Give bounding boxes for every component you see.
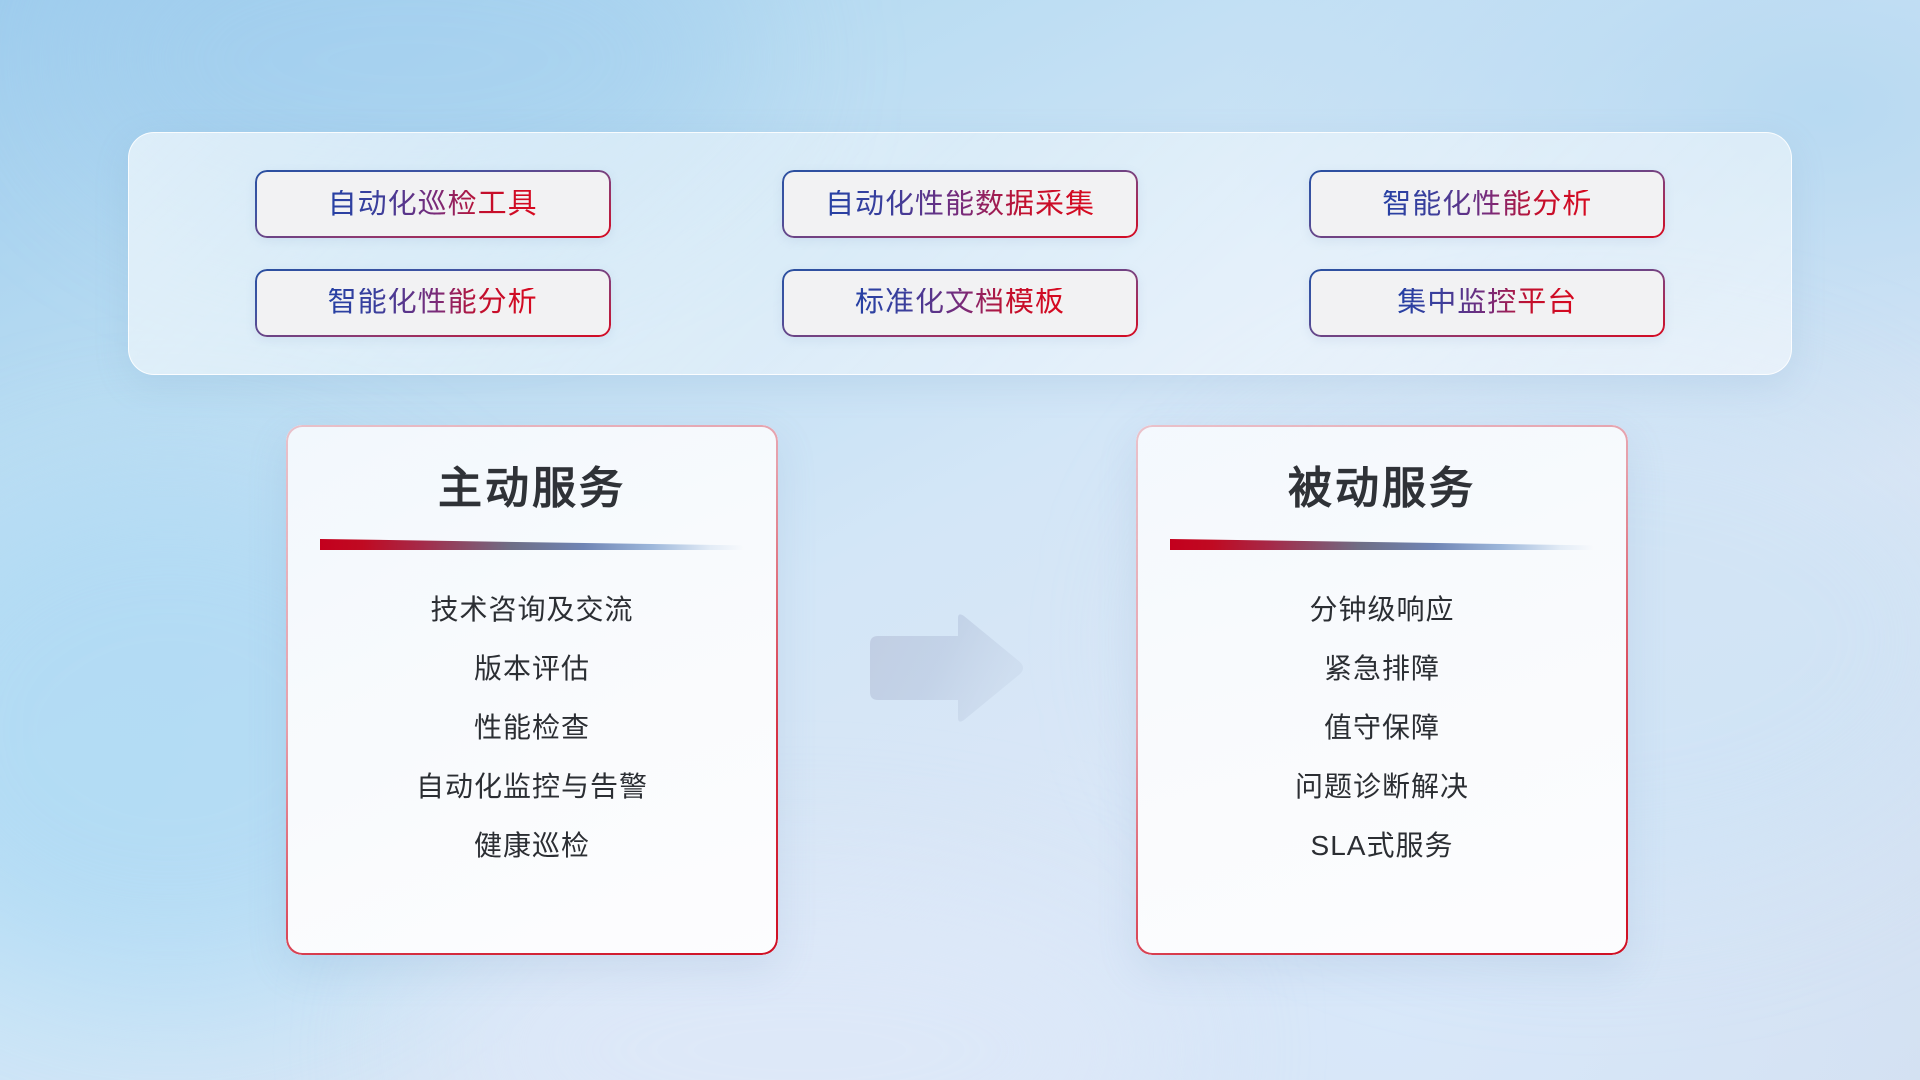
service-list: 分钟级响应 紧急排障 值守保障 问题诊断解决 SLA式服务 — [1136, 580, 1628, 875]
capability-pill-label: 自动化性能数据采集 — [825, 190, 1095, 219]
card-title: 被动服务 — [1136, 467, 1628, 511]
list-item: SLA式服务 — [1311, 816, 1454, 875]
capability-pill-3[interactable]: 智能化性能分析 — [1309, 170, 1665, 238]
service-card-proactive: 主动服务 技术咨询及交流 版本评估 性能检查 自动化监控与告警 健康巡检 — [286, 425, 778, 955]
divider-bar — [320, 539, 744, 550]
capability-pill-5[interactable]: 标准化文档模板 — [782, 269, 1138, 337]
capability-pill-1[interactable]: 自动化巡检工具 — [255, 170, 611, 238]
capability-pill-label: 标准化文档模板 — [855, 288, 1065, 317]
diagram-canvas: 自动化巡检工具 自动化性能数据采集 智能化性能分析 智能化性能分析 标准化文档模… — [0, 0, 1920, 1080]
flow-arrow-right-icon — [866, 612, 1026, 724]
capability-pill-label: 智能化性能分析 — [1382, 190, 1592, 219]
list-item: 版本评估 — [474, 639, 590, 698]
card-title: 主动服务 — [286, 467, 778, 511]
title-divider — [320, 539, 744, 550]
capability-panel: 自动化巡检工具 自动化性能数据采集 智能化性能分析 智能化性能分析 标准化文档模… — [128, 132, 1792, 375]
divider-bar — [1170, 539, 1594, 550]
service-list: 技术咨询及交流 版本评估 性能检查 自动化监控与告警 健康巡检 — [286, 580, 778, 875]
capability-pill-6[interactable]: 集中监控平台 — [1309, 269, 1665, 337]
title-divider — [1170, 539, 1594, 550]
capability-pill-2[interactable]: 自动化性能数据采集 — [782, 170, 1138, 238]
capability-pill-label: 自动化巡检工具 — [328, 190, 538, 219]
capability-pill-label: 智能化性能分析 — [328, 288, 538, 317]
list-item: 技术咨询及交流 — [430, 580, 633, 639]
list-item: 自动化监控与告警 — [416, 757, 648, 816]
list-item: 值守保障 — [1324, 698, 1440, 757]
list-item: 紧急排障 — [1324, 639, 1440, 698]
capability-pill-4[interactable]: 智能化性能分析 — [255, 269, 611, 337]
capability-pill-label: 集中监控平台 — [1397, 288, 1577, 317]
list-item: 问题诊断解决 — [1295, 757, 1469, 816]
service-card-reactive: 被动服务 分钟级响应 紧急排障 值守保障 问题诊断解决 SLA式服务 — [1136, 425, 1628, 955]
list-item: 性能检查 — [474, 698, 590, 757]
list-item: 健康巡检 — [474, 816, 590, 875]
list-item: 分钟级响应 — [1309, 580, 1454, 639]
